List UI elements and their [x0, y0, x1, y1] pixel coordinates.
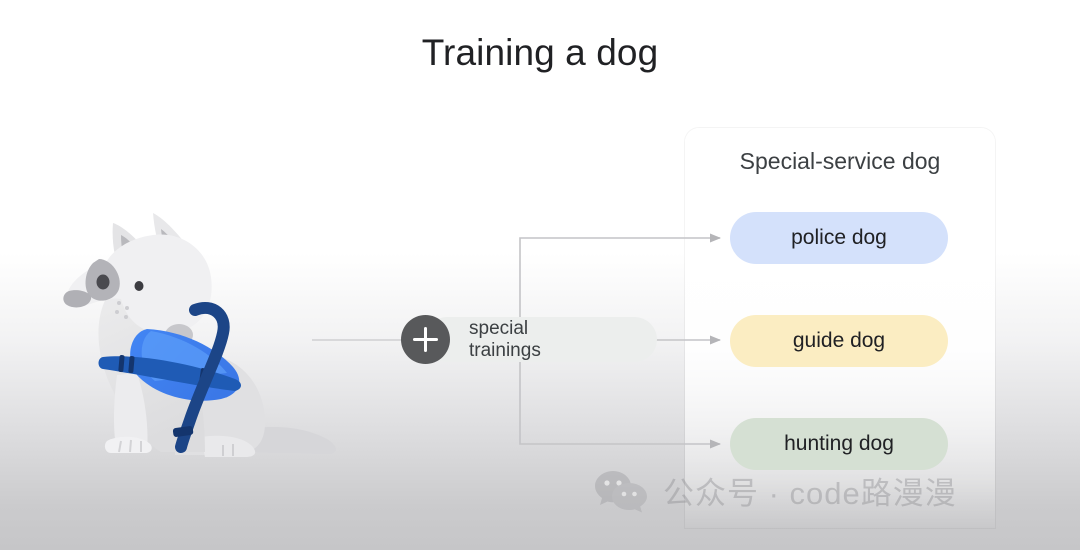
plus-icon-vertical: [424, 327, 427, 352]
watermark-text: 公众号 · code路漫漫: [663, 468, 957, 513]
pill-label: police dog: [791, 226, 887, 250]
pill-hunting-dog[interactable]: hunting dog: [730, 418, 948, 470]
plus-icon[interactable]: [401, 315, 450, 364]
watermark: 公众号 · code路漫漫: [595, 468, 957, 513]
node-background: [425, 317, 657, 362]
pill-label: guide dog: [793, 329, 885, 353]
pill-police-dog[interactable]: police dog: [730, 212, 948, 264]
pill-guide-dog[interactable]: guide dog: [730, 315, 948, 367]
wechat-icon: [595, 469, 647, 513]
pill-label: hunting dog: [784, 432, 894, 456]
node-label: special trainings: [469, 317, 541, 362]
